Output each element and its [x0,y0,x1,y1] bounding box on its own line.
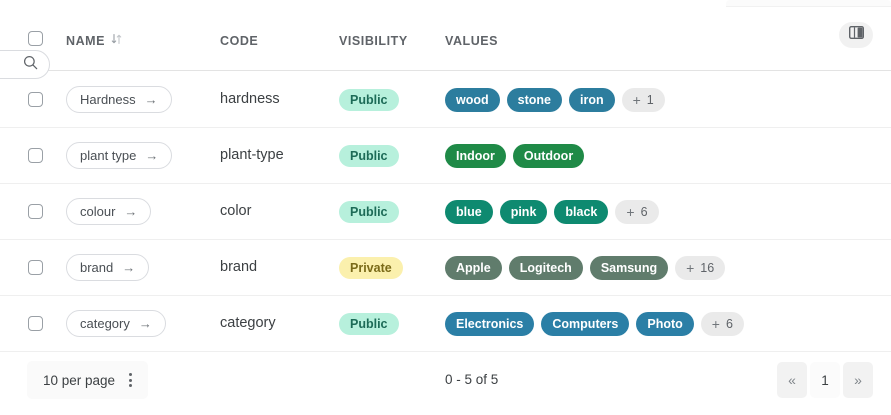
value-chip[interactable]: Logitech [509,256,583,280]
table-header-row: NAME CODE VISIBILITY VALUES [0,0,891,62]
value-chip[interactable]: iron [569,88,615,112]
columns-layout-icon [849,26,864,44]
row-checkbox[interactable] [28,92,43,107]
row-checkbox-cell[interactable] [28,260,43,275]
pagination-prev-button[interactable]: « [777,362,807,398]
row-checkbox-cell[interactable] [28,92,43,107]
visibility-badge: Public [339,313,399,335]
visibility-badge: Public [339,201,399,223]
value-overflow-chip[interactable]: + 6 [701,312,744,336]
attribute-name-pill[interactable]: plant type → [66,142,172,169]
sort-arrows-icon[interactable] [111,33,122,47]
value-chip[interactable]: Electronics [445,312,534,336]
value-chip[interactable]: Computers [541,312,629,336]
result-range-text: 0 - 5 of 5 [445,372,498,387]
attribute-name-label: category [80,316,130,331]
row-checkbox-cell[interactable] [28,148,43,163]
visibility-badge: Private [339,257,403,279]
value-chip[interactable]: Photo [636,312,693,336]
attribute-name-label: plant type [80,148,136,163]
row-checkbox[interactable] [28,148,43,163]
plus-icon: + [686,261,694,275]
attribute-name-pill[interactable]: Hardness → [66,86,172,113]
value-chip[interactable]: pink [500,200,548,224]
row-code: hardness [220,91,280,107]
value-chip[interactable]: Outdoor [513,144,584,168]
pagination-page-1-button[interactable]: 1 [810,362,840,398]
plus-icon: + [626,205,634,219]
row-code: brand [220,259,257,275]
row-checkbox-cell[interactable] [28,316,43,331]
per-page-selector[interactable]: 10 per page [27,361,148,399]
row-visibility-cell: Public [339,89,399,111]
column-header-visibility[interactable]: VISIBILITY [339,34,408,48]
row-name-cell: Hardness → [66,86,172,113]
table-row[interactable]: Hardness → hardness Public wood stone ir… [0,72,891,128]
table-row[interactable]: colour → color Public blue pink black + … [0,184,891,240]
arrow-right-icon: → [145,149,158,162]
row-name-cell: category → [66,310,166,337]
row-values-cell: wood stone iron + 1 [445,88,665,112]
table-body: Hardness → hardness Public wood stone ir… [0,72,891,352]
attribute-name-label: colour [80,204,115,219]
row-name-cell: brand → [66,254,149,281]
arrow-right-icon: → [124,205,137,218]
value-chip[interactable]: Apple [445,256,502,280]
value-overflow-count: 16 [700,261,714,275]
attributes-table-page: NAME CODE VISIBILITY VALUES [0,0,891,415]
row-values-cell: blue pink black + 6 [445,200,659,224]
row-values-cell: Apple Logitech Samsung + 16 [445,256,725,280]
value-chip[interactable]: wood [445,88,500,112]
column-header-name-label: NAME [66,34,105,48]
row-code: color [220,203,251,219]
row-code: plant-type [220,147,284,163]
table-row[interactable]: category → category Public Electronics C… [0,296,891,352]
table-row[interactable]: brand → brand Private Apple Logitech Sam… [0,240,891,296]
select-all-checkbox[interactable] [28,31,43,46]
attribute-name-label: Hardness [80,92,136,107]
row-visibility-cell: Private [339,257,403,279]
visibility-badge: Public [339,89,399,111]
column-header-visibility-label: VISIBILITY [339,34,408,48]
table-row[interactable]: plant type → plant-type Public Indoor Ou… [0,128,891,184]
column-header-values[interactable]: VALUES [445,34,498,48]
per-page-label: 10 per page [43,373,115,388]
value-chip[interactable]: black [554,200,608,224]
select-all-checkbox-cell[interactable] [28,31,43,46]
arrow-right-icon: → [139,317,152,330]
pagination: « 1 » [777,362,873,398]
column-header-name[interactable]: NAME [66,34,122,48]
value-chip[interactable]: Samsung [590,256,668,280]
value-overflow-chip[interactable]: + 6 [615,200,658,224]
plus-icon: + [712,317,720,331]
row-checkbox[interactable] [28,260,43,275]
row-code: category [220,315,276,331]
search-divider [32,70,891,71]
visibility-badge: Public [339,145,399,167]
row-visibility-cell: Public [339,145,399,167]
row-values-cell: Electronics Computers Photo + 6 [445,312,744,336]
row-visibility-cell: Public [339,313,399,335]
value-overflow-count: 6 [641,205,648,219]
arrow-right-icon: → [145,93,158,106]
more-vertical-icon[interactable] [129,373,132,387]
attribute-name-pill[interactable]: brand → [66,254,149,281]
value-chip[interactable]: blue [445,200,493,224]
row-values-cell: Indoor Outdoor [445,144,584,168]
columns-layout-toggle-button[interactable] [839,22,873,48]
row-visibility-cell: Public [339,201,399,223]
column-header-code-label: CODE [220,34,258,48]
attribute-name-pill[interactable]: category → [66,310,166,337]
value-overflow-chip[interactable]: + 1 [622,88,665,112]
value-chip[interactable]: stone [507,88,562,112]
table-header: NAME CODE VISIBILITY VALUES [0,0,891,62]
row-checkbox-cell[interactable] [28,204,43,219]
value-overflow-chip[interactable]: + 16 [675,256,725,280]
pagination-next-button[interactable]: » [843,362,873,398]
table-footer: 10 per page 0 - 5 of 5 « 1 » [0,356,891,415]
row-checkbox[interactable] [28,204,43,219]
plus-icon: + [633,93,641,107]
value-overflow-count: 1 [647,93,654,107]
row-name-cell: colour → [66,198,151,225]
attribute-name-label: brand [80,260,113,275]
value-chip[interactable]: Indoor [445,144,506,168]
column-header-values-label: VALUES [445,34,498,48]
arrow-right-icon: → [122,261,135,274]
row-name-cell: plant type → [66,142,172,169]
row-checkbox[interactable] [28,316,43,331]
column-header-code[interactable]: CODE [220,34,258,48]
value-overflow-count: 6 [726,317,733,331]
attribute-name-pill[interactable]: colour → [66,198,151,225]
